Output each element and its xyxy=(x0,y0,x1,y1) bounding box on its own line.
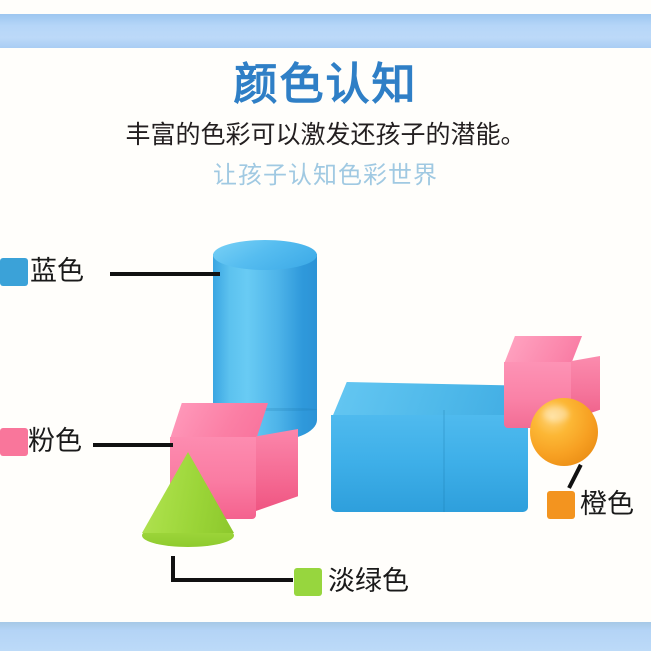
swatch-blue xyxy=(0,258,28,286)
cuboid-front-face xyxy=(331,415,528,512)
headline-block: 颜色认知 丰富的色彩可以激发还孩子的潜能。 让孩子认知色彩世界 xyxy=(0,62,651,190)
legend-label-green: 淡绿色 xyxy=(328,559,409,598)
cone-body xyxy=(142,452,234,540)
green-cone-shape xyxy=(142,452,234,550)
cube-side-face xyxy=(256,429,298,511)
swatch-green xyxy=(294,568,322,596)
orange-sphere-shape xyxy=(530,398,598,466)
color-cognition-poster: 颜色认知 丰富的色彩可以激发还孩子的潜能。 让孩子认知色彩世界 蓝色 xyxy=(0,0,651,651)
small-cube-top-face xyxy=(504,336,582,364)
page-tagline: 让孩子认知色彩世界 xyxy=(0,161,651,190)
leader-line-pink xyxy=(93,443,173,447)
cube-top-face xyxy=(170,403,268,439)
cylinder-top-ellipse xyxy=(213,240,317,270)
bottom-decorative-band xyxy=(0,622,651,651)
legend-label-blue: 蓝色 xyxy=(30,249,84,288)
top-decorative-band xyxy=(0,14,651,48)
legend-label-pink: 粉色 xyxy=(28,419,82,458)
page-subtitle: 丰富的色彩可以激发还孩子的潜能。 xyxy=(0,120,651,150)
leader-line-blue xyxy=(110,272,220,276)
swatch-pink xyxy=(0,428,28,456)
page-title: 颜色认知 xyxy=(0,62,651,108)
swatch-orange xyxy=(547,491,575,519)
blue-cuboid-shape xyxy=(331,382,528,512)
cuboid-seam xyxy=(443,410,445,512)
legend-label-orange: 橙色 xyxy=(580,482,634,521)
leader-line-green-horizontal xyxy=(171,578,293,582)
sphere-highlight xyxy=(543,406,569,422)
